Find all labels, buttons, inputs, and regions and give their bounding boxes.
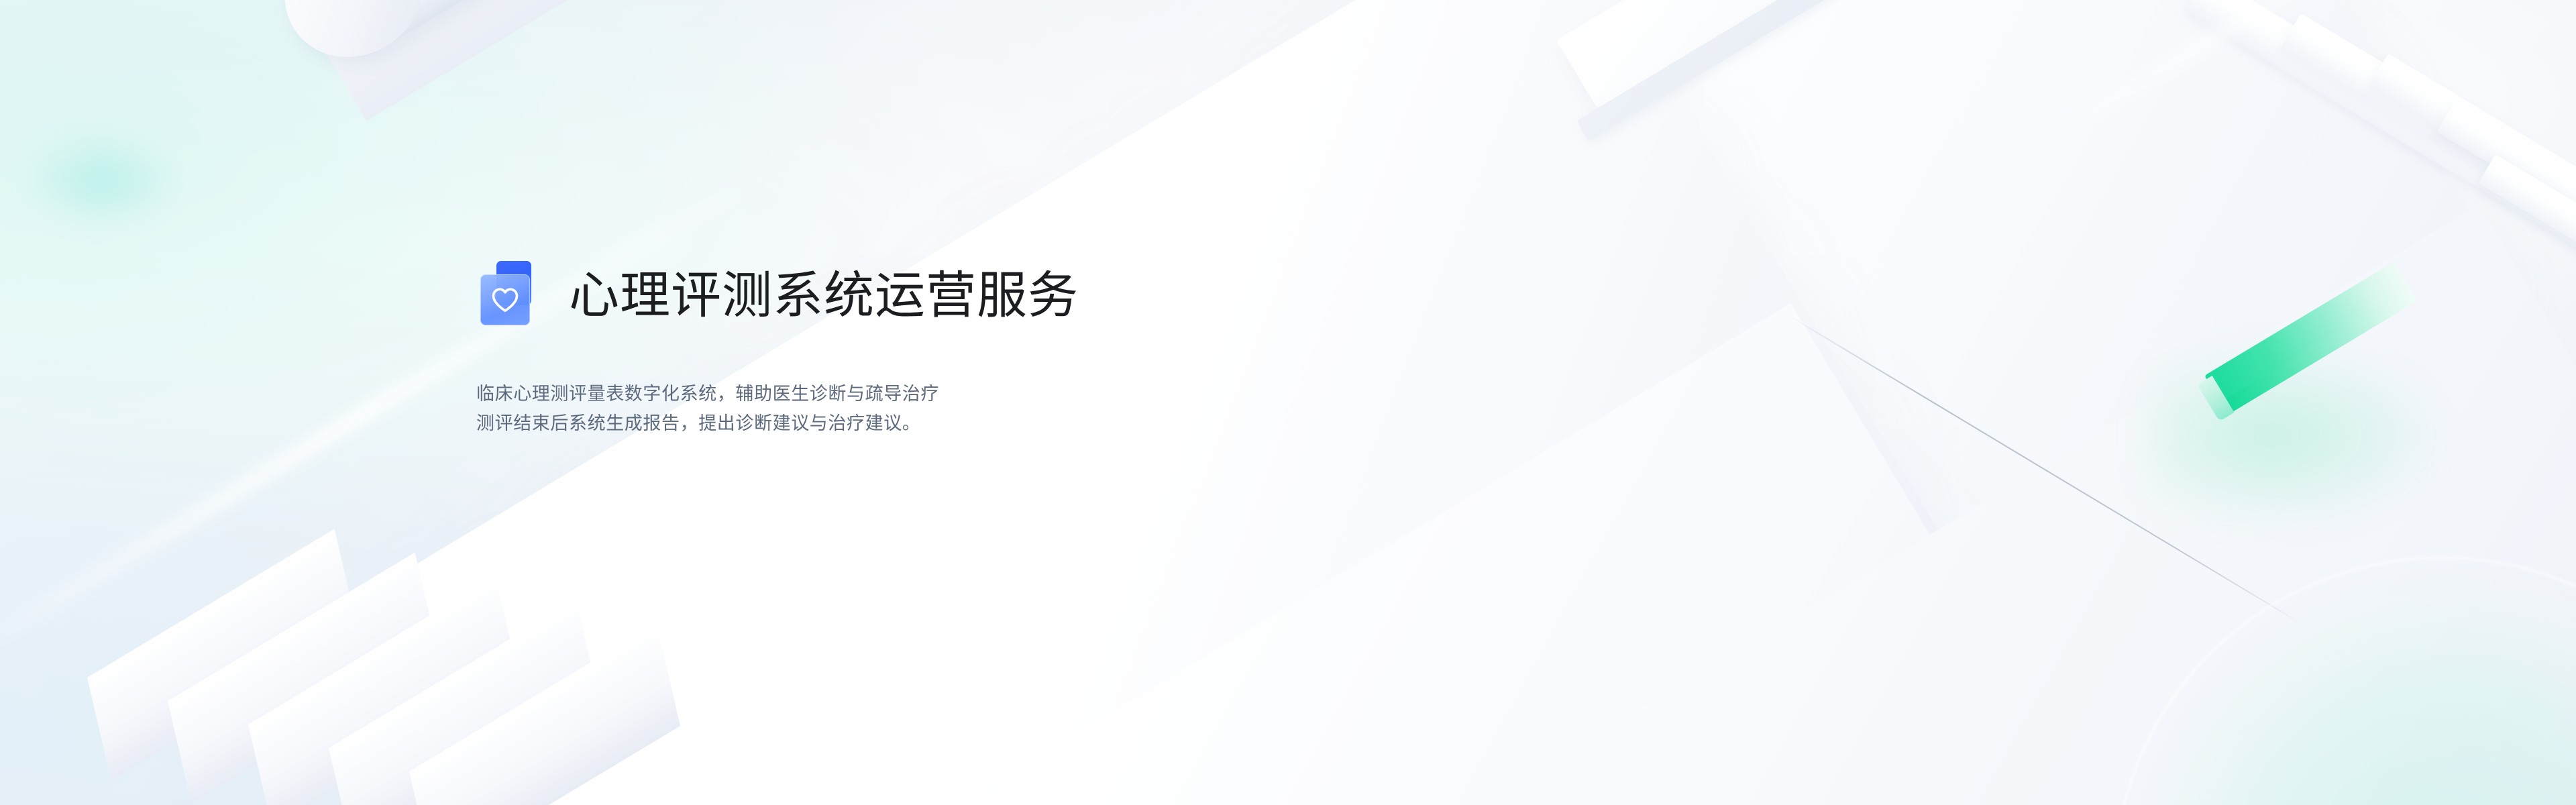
green-slab-side [2197,376,2234,421]
slat-3 [2368,54,2576,329]
light-streak-3 [1932,0,2455,211]
stair-fin-4 [329,600,600,805]
stair-fin-2 [168,553,439,804]
hero-banner: 心理评测系统运营服务 临床心理测评量表数字化系统，辅助医生诊断与疏导治疗 测评结… [0,0,2576,805]
panel-seam-line [1787,314,2305,626]
curl-cap [260,0,447,83]
slat-4 [2436,101,2576,353]
slab-midright-1 [1556,0,2184,109]
green-accent-slab [2204,262,2443,456]
stair-fin-1 [87,529,358,781]
stair-fin-3 [248,576,519,805]
teal-wisp-decoration [0,114,201,248]
page-title: 心理评测系统运营服务 [569,269,1079,323]
banner-subtitle: 临床心理测评量表数字化系统，辅助医生诊断与疏导治疗 测评结束后系统生成报告，提出… [476,380,1483,438]
slat-2 [2279,13,2576,305]
banner-content: 心理评测系统运营服务 临床心理测评量表数字化系统，辅助医生诊断与疏导治疗 测评结… [476,254,1483,438]
icon-front-card [480,274,530,325]
heart-card-icon [476,261,534,331]
heart-icon [491,287,519,313]
slab-midright-2 [1576,0,2153,142]
green-accent-glow [2147,335,2563,557]
stair-fin-5 [409,623,680,805]
subtitle-line-1: 临床心理测评量表数字化系统，辅助医生诊断与疏导治疗 [476,380,1483,409]
green-slab-top [2204,262,2410,402]
slat-5 [2478,154,2576,390]
title-row: 心理评测系统运营服务 [476,254,1483,338]
subtitle-line-2: 测评结束后系统生成报告，提出诊断建议与治疗建议。 [476,409,1483,439]
curl-body [221,0,1229,121]
light-streak-2 [1046,0,1858,92]
curled-paper-decoration [221,0,1319,270]
slat-1 [2184,0,2576,274]
curl-roll [262,0,1213,82]
green-slab-face [2219,286,2418,415]
mint-arc-edge [2113,557,2576,805]
